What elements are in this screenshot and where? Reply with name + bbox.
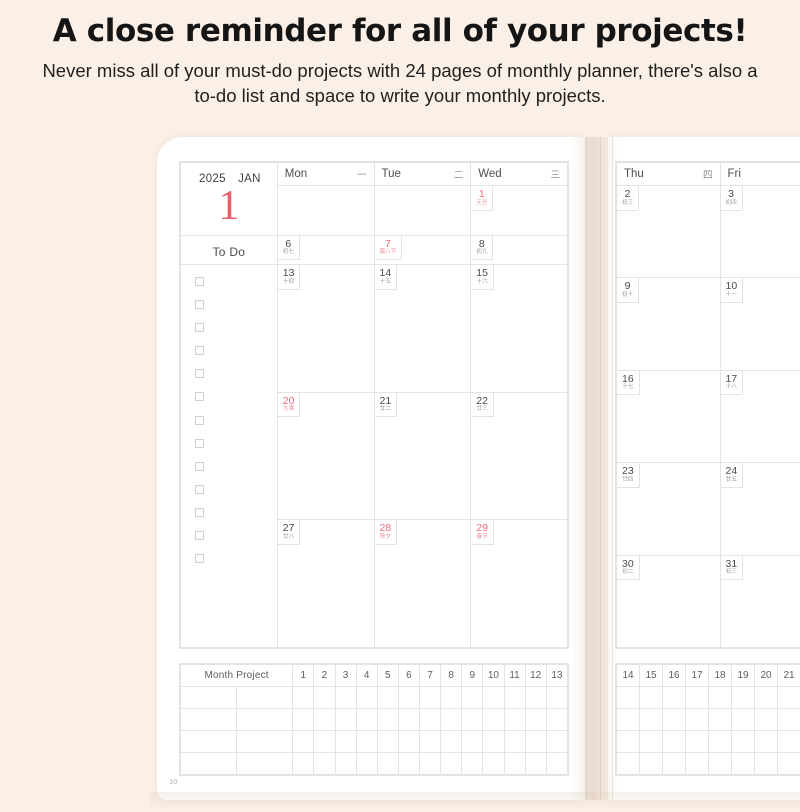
month-project-day-header: 12	[525, 665, 546, 687]
todo-checkbox[interactable]	[195, 277, 204, 286]
todo-item[interactable]	[195, 554, 277, 577]
todo-checkbox[interactable]	[195, 462, 204, 471]
month-project-day-header: 4	[356, 665, 377, 687]
weekday-header-wed: Wed 三	[471, 163, 568, 186]
planner-page-left: 2025 JAN 1 Mon 一	[157, 137, 585, 800]
day-cell[interactable]: 13 十四	[277, 265, 374, 393]
month-project-left: Month Project12345678910111213	[179, 663, 569, 776]
month-project-cell[interactable]	[293, 709, 314, 731]
date-badge: 20 大寒	[277, 392, 301, 418]
date-badge: 24 廿五	[720, 462, 744, 488]
todo-item[interactable]	[195, 485, 277, 508]
date-number: 3	[726, 189, 737, 200]
month-project-cell[interactable]	[732, 753, 755, 775]
month-project-cell[interactable]	[778, 753, 800, 775]
day-cell[interactable]: 23 廿四	[617, 463, 721, 555]
month-project-cell[interactable]	[335, 687, 356, 709]
promo-subtitle: Never miss all of your must-do projects …	[35, 59, 765, 109]
date-number: 31	[726, 559, 738, 570]
month-number: 1	[181, 187, 277, 226]
date-number: 30	[622, 559, 634, 570]
month-project-header-row: 141516171819202122	[617, 665, 800, 687]
date-lunar: 初四	[726, 200, 737, 207]
month-project-cell[interactable]	[462, 731, 483, 753]
date-badge: 15 十六	[470, 264, 494, 290]
date-number: 21	[380, 396, 392, 407]
month-project-cell[interactable]	[462, 753, 483, 775]
month-project-table-left: Month Project12345678910111213	[180, 664, 568, 775]
spine-line	[586, 137, 587, 800]
date-badge: 23 廿四	[616, 462, 640, 488]
month-project-cell[interactable]	[732, 709, 755, 731]
month-project-header-row: Month Project12345678910111213	[181, 665, 568, 687]
month-project-cell[interactable]	[640, 687, 663, 709]
date-number: 14	[380, 268, 392, 279]
date-badge: 13 十四	[277, 264, 301, 290]
month-project-cell[interactable]	[709, 687, 732, 709]
month-project-label: Month Project	[181, 665, 293, 687]
month-project-cell[interactable]	[755, 753, 778, 775]
day-cell[interactable]: 9 初十	[617, 278, 721, 370]
calendar-grid-right: Thu 四 Fri 五	[615, 161, 800, 649]
date-lunar: 初九	[476, 249, 487, 256]
day-cell[interactable]: 3 初四	[720, 186, 800, 278]
month-project-cell[interactable]	[441, 753, 462, 775]
weekday-header-fri: Fri 五	[720, 163, 800, 186]
month-project-cell[interactable]	[617, 709, 640, 731]
date-badge: 10 十一	[720, 277, 744, 303]
month-project-day-header: 15	[640, 665, 663, 687]
date-number: 17	[726, 374, 738, 385]
date-number: 29	[476, 523, 488, 534]
month-project-cell[interactable]	[525, 709, 546, 731]
todo-checkbox[interactable]	[195, 416, 204, 425]
date-badge: 9 初十	[616, 277, 639, 303]
date-lunar: 除夕	[380, 534, 392, 541]
calendar-header-row-left: 2025 JAN 1 Mon 一	[181, 163, 568, 186]
date-badge: 1 元旦	[470, 185, 493, 211]
todo-item[interactable]	[195, 277, 277, 300]
month-project-row	[181, 731, 568, 753]
day-cell[interactable]: 8 初九	[471, 235, 568, 264]
day-cell[interactable]: 17 十八	[720, 370, 800, 462]
month-project-cell[interactable]	[525, 687, 546, 709]
date-badge: 2 初三	[616, 185, 639, 211]
day-cell[interactable]: 7 腊八节	[374, 235, 471, 264]
todo-title: To Do	[181, 236, 277, 259]
todo-checkbox[interactable]	[195, 300, 204, 309]
month-project-right: 141516171819202122	[615, 663, 800, 776]
month-project-cell[interactable]	[314, 731, 335, 753]
month-project-cell[interactable]	[483, 731, 504, 753]
calendar-week-row: 9 初十 10 十一	[617, 278, 800, 370]
date-badge: 22 廿三	[470, 392, 494, 418]
month-project-cell[interactable]	[420, 687, 441, 709]
date-lunar: 十一	[726, 292, 738, 299]
date-lunar: 初二	[622, 569, 634, 576]
month-project-cell[interactable]	[546, 731, 567, 753]
month-project-row	[617, 753, 800, 775]
month-project-cell[interactable]	[314, 753, 335, 775]
day-cell[interactable]: 15 十六	[471, 265, 568, 393]
date-badge: 30 初二	[616, 555, 640, 581]
day-cell[interactable]: 2 初三	[617, 186, 721, 278]
month-project-cell[interactable]	[504, 687, 525, 709]
month-project-cell[interactable]	[462, 687, 483, 709]
month-project-day-header: 14	[617, 665, 640, 687]
date-badge: 27 廿八	[277, 519, 301, 545]
month-project-cell[interactable]	[398, 709, 419, 731]
month-project-cell[interactable]	[335, 731, 356, 753]
month-project-day-header: 20	[755, 665, 778, 687]
month-project-cell[interactable]	[398, 731, 419, 753]
month-project-row	[181, 753, 568, 775]
month-project-cell[interactable]	[755, 709, 778, 731]
month-project-cell[interactable]	[441, 687, 462, 709]
month-project-cell[interactable]	[356, 709, 377, 731]
day-cell[interactable]: 20 大寒	[277, 392, 374, 520]
month-project-day-header: 9	[462, 665, 483, 687]
date-number: 13	[283, 268, 295, 279]
todo-checkbox[interactable]	[195, 531, 204, 540]
month-project-cell[interactable]	[663, 687, 686, 709]
date-number: 7	[380, 239, 397, 250]
month-project-cell[interactable]	[709, 731, 732, 753]
date-number: 24	[726, 466, 738, 477]
todo-item[interactable]	[195, 346, 277, 369]
month-project-cell[interactable]	[755, 687, 778, 709]
todo-checkbox[interactable]	[195, 485, 204, 494]
weekday-cn: 一	[357, 167, 367, 181]
todo-checkbox[interactable]	[195, 392, 204, 401]
month-project-name-cell[interactable]	[237, 731, 293, 753]
month-project-cell[interactable]	[640, 731, 663, 753]
month-project-row	[181, 687, 568, 709]
month-project-cell[interactable]	[483, 709, 504, 731]
month-project-row	[617, 709, 800, 731]
month-project-name-cell[interactable]	[181, 709, 237, 731]
month-project-cell[interactable]	[462, 709, 483, 731]
date-number: 6	[283, 239, 294, 250]
month-project-name-cell[interactable]	[237, 709, 293, 731]
month-project-day-header: 17	[686, 665, 709, 687]
month-project-cell[interactable]	[377, 753, 398, 775]
date-lunar: 十六	[476, 279, 488, 286]
todo-title-cell: To Do	[181, 235, 278, 264]
date-number: 9	[622, 281, 633, 292]
month-project-cell[interactable]	[640, 753, 663, 775]
month-project-day-header: 11	[504, 665, 525, 687]
todo-item[interactable]	[195, 416, 277, 439]
todo-item[interactable]	[195, 323, 277, 346]
day-cell[interactable]	[277, 186, 374, 236]
date-lunar: 十七	[622, 384, 634, 391]
date-number: 23	[622, 466, 634, 477]
month-project-day-header: 21	[778, 665, 800, 687]
month-project-day-header: 1	[293, 665, 314, 687]
weekday-en: Wed	[478, 168, 501, 180]
todo-item[interactable]	[195, 392, 277, 415]
month-project-cell[interactable]	[617, 731, 640, 753]
calendar-week-row: 23 廿四 24 廿五	[617, 463, 800, 555]
month-project-cell[interactable]	[483, 687, 504, 709]
month-project-cell[interactable]	[293, 731, 314, 753]
planner-sheet-right: Thu 四 Fri 五	[615, 161, 800, 752]
date-number: 1	[476, 189, 487, 200]
date-lunar: 初十	[622, 292, 633, 299]
month-project-cell[interactable]	[640, 709, 663, 731]
date-badge: 16 十七	[616, 370, 640, 396]
calendar-header-row-right: Thu 四 Fri 五	[617, 163, 800, 186]
month-project-cell[interactable]	[663, 709, 686, 731]
date-number: 27	[283, 523, 295, 534]
day-cell[interactable]: 10 十一	[720, 278, 800, 370]
month-project-day-header: 13	[546, 665, 567, 687]
month-project-cell[interactable]	[335, 709, 356, 731]
weekday-cn: 三	[550, 167, 560, 181]
date-lunar: 廿四	[622, 477, 634, 484]
date-number: 2	[622, 189, 633, 200]
date-lunar: 廿八	[283, 534, 295, 541]
month-project-cell[interactable]	[314, 687, 335, 709]
weekday-cn: 四	[703, 167, 713, 181]
weekday-en: Fri	[728, 168, 741, 180]
todo-checkbox[interactable]	[195, 439, 204, 448]
month-project-cell[interactable]	[663, 731, 686, 753]
todo-item[interactable]	[195, 439, 277, 462]
month-project-name-cell[interactable]	[181, 731, 237, 753]
month-project-day-header: 16	[663, 665, 686, 687]
month-project-day-header: 6	[398, 665, 419, 687]
month-project-name-cell[interactable]	[237, 687, 293, 709]
day-cell[interactable]: 6 初七	[277, 235, 374, 264]
month-project-cell[interactable]	[732, 731, 755, 753]
todo-checkbox-list	[181, 265, 277, 577]
planner-page-right: Thu 四 Fri 五	[608, 137, 800, 800]
calendar-grid-left: 2025 JAN 1 Mon 一	[179, 161, 569, 649]
month-project-cell[interactable]	[686, 753, 709, 775]
month-project-day-header: 8	[441, 665, 462, 687]
day-cell[interactable]: 27 廿八	[277, 520, 374, 648]
month-project-cell[interactable]	[504, 731, 525, 753]
spine-line	[612, 137, 613, 800]
day-cell[interactable]: 24 廿五	[720, 463, 800, 555]
month-project-cell[interactable]	[755, 731, 778, 753]
month-project-cell[interactable]	[356, 687, 377, 709]
month-project-cell[interactable]	[686, 709, 709, 731]
todo-item[interactable]	[195, 508, 277, 531]
month-project-day-header: 2	[314, 665, 335, 687]
calendar-week-row: 2 初三 3 初四	[617, 186, 800, 278]
date-badge: 8 初九	[470, 235, 493, 261]
date-number: 22	[476, 396, 488, 407]
date-lunar: 大寒	[283, 406, 295, 413]
calendar-week-row: 16 十七 17 十八	[617, 370, 800, 462]
month-project-cell[interactable]	[546, 687, 567, 709]
day-cell[interactable]	[374, 186, 471, 236]
date-badge: 3 初四	[720, 185, 743, 211]
date-lunar: 廿五	[726, 477, 738, 484]
month-project-day-header: 18	[709, 665, 732, 687]
month-project-cell[interactable]	[377, 731, 398, 753]
month-project-cell[interactable]	[420, 709, 441, 731]
month-project-day-header: 19	[732, 665, 755, 687]
month-project-cell[interactable]	[709, 709, 732, 731]
month-project-cell[interactable]	[314, 709, 335, 731]
month-project-cell[interactable]	[441, 709, 462, 731]
day-cell[interactable]: 21 廿二	[374, 392, 471, 520]
month-title-cell: 2025 JAN 1	[181, 163, 278, 236]
month-project-day-header: 7	[420, 665, 441, 687]
todo-checkbox[interactable]	[195, 554, 204, 563]
date-badge: 17 十八	[720, 370, 744, 396]
date-number: 20	[283, 396, 295, 407]
month-project-cell[interactable]	[420, 753, 441, 775]
date-number: 8	[476, 239, 487, 250]
day-cell[interactable]: 30 初二	[617, 555, 721, 647]
weekday-header-thu: Thu 四	[617, 163, 721, 186]
month-project-cell[interactable]	[778, 687, 800, 709]
page-bottom-shadow	[150, 792, 800, 812]
month-abbr-label: JAN	[238, 173, 261, 185]
month-project-cell[interactable]	[356, 753, 377, 775]
month-project-name-cell[interactable]	[181, 687, 237, 709]
month-project-cell[interactable]	[483, 753, 504, 775]
date-lunar: 十四	[283, 279, 295, 286]
calendar-week-row: 13 十四 14 十五 15	[181, 265, 568, 393]
date-lunar: 春节	[476, 534, 488, 541]
notebook-spread: 2025 JAN 1 Mon 一	[0, 137, 800, 800]
month-project-cell[interactable]	[356, 731, 377, 753]
todo-checkbox[interactable]	[195, 323, 204, 332]
todo-item[interactable]	[195, 369, 277, 392]
date-lunar: 腊八节	[380, 249, 397, 256]
month-project-cell[interactable]	[293, 753, 314, 775]
page-title: A close reminder for all of your project…	[0, 14, 800, 49]
spine-line	[600, 137, 601, 800]
month-project-table-right: 141516171819202122	[616, 664, 800, 775]
month-project-cell[interactable]	[504, 753, 525, 775]
month-project-day-header: 3	[335, 665, 356, 687]
weekday-header-tue: Tue 二	[374, 163, 471, 186]
month-project-cell[interactable]	[778, 731, 800, 753]
month-project-name-cell[interactable]	[237, 753, 293, 775]
date-lunar: 十五	[380, 279, 392, 286]
date-number: 10	[726, 281, 738, 292]
month-project-row	[181, 709, 568, 731]
month-project-cell[interactable]	[686, 687, 709, 709]
month-project-day-header: 5	[377, 665, 398, 687]
month-project-cell[interactable]	[504, 709, 525, 731]
date-badge: 29 春节	[470, 519, 494, 545]
month-project-cell[interactable]	[420, 731, 441, 753]
page-number: 10	[169, 777, 177, 786]
todo-checkbox[interactable]	[195, 346, 204, 355]
day-cell[interactable]: 14 十五	[374, 265, 471, 393]
calendar-table-right: Thu 四 Fri 五	[616, 162, 800, 648]
month-project-cell[interactable]	[293, 687, 314, 709]
date-lunar: 十八	[726, 384, 738, 391]
todo-list-cell	[181, 265, 278, 648]
planner-sheet-left: 2025 JAN 1 Mon 一	[179, 161, 569, 752]
weekday-cn: 二	[454, 167, 464, 181]
month-project-cell[interactable]	[525, 731, 546, 753]
month-project-row	[617, 731, 800, 753]
todo-item[interactable]	[195, 300, 277, 323]
date-badge: 7 腊八节	[374, 235, 403, 261]
day-cell[interactable]: 28 除夕	[374, 520, 471, 648]
date-lunar: 初三	[726, 569, 738, 576]
date-number: 28	[380, 523, 392, 534]
day-cell[interactable]: 16 十七	[617, 370, 721, 462]
day-cell[interactable]: 31 初三	[720, 555, 800, 647]
date-badge: 28 除夕	[374, 519, 398, 545]
day-cell[interactable]: 22 廿三	[471, 392, 568, 520]
todo-checkbox[interactable]	[195, 369, 204, 378]
month-project-cell[interactable]	[546, 709, 567, 731]
month-project-cell[interactable]	[377, 709, 398, 731]
date-badge: 14 十五	[374, 264, 398, 290]
weekday-en: Mon	[285, 168, 307, 180]
month-project-cell[interactable]	[686, 731, 709, 753]
date-number: 15	[476, 268, 488, 279]
month-project-cell[interactable]	[441, 731, 462, 753]
month-project-row	[617, 687, 800, 709]
date-lunar: 初三	[622, 200, 633, 207]
month-project-cell[interactable]	[709, 753, 732, 775]
date-lunar: 初七	[283, 249, 294, 256]
month-project-cell[interactable]	[617, 687, 640, 709]
date-badge: 21 廿二	[374, 392, 398, 418]
date-badge: 31 初三	[720, 555, 744, 581]
month-project-cell[interactable]	[732, 687, 755, 709]
weekday-en: Thu	[624, 168, 644, 180]
month-project-cell[interactable]	[663, 753, 686, 775]
month-project-cell[interactable]	[335, 753, 356, 775]
month-project-cell[interactable]	[525, 753, 546, 775]
month-project-cell[interactable]	[398, 753, 419, 775]
day-cell[interactable]: 29 春节	[471, 520, 568, 648]
date-lunar: 廿二	[380, 406, 392, 413]
month-project-day-header: 10	[483, 665, 504, 687]
calendar-table-left: 2025 JAN 1 Mon 一	[180, 162, 568, 648]
date-badge: 6 初七	[277, 235, 300, 261]
calendar-week-row: 30 初二 31 初三	[617, 555, 800, 647]
day-cell[interactable]: 1 元旦	[471, 186, 568, 236]
calendar-week-row: To Do 6 初七 7 腊八节	[181, 235, 568, 264]
date-lunar: 元旦	[476, 200, 487, 207]
promo-header: A close reminder for all of your project…	[0, 0, 800, 108]
date-lunar: 廿三	[476, 406, 488, 413]
todo-item[interactable]	[195, 462, 277, 485]
date-number: 16	[622, 374, 634, 385]
month-project-name-cell[interactable]	[181, 753, 237, 775]
todo-item[interactable]	[195, 531, 277, 554]
month-project-cell[interactable]	[546, 753, 567, 775]
month-project-cell[interactable]	[398, 687, 419, 709]
month-project-cell[interactable]	[377, 687, 398, 709]
month-project-cell[interactable]	[778, 709, 800, 731]
month-project-cell[interactable]	[617, 753, 640, 775]
weekday-en: Tue	[382, 168, 401, 180]
weekday-header-mon: Mon 一	[277, 163, 374, 186]
todo-checkbox[interactable]	[195, 508, 204, 517]
